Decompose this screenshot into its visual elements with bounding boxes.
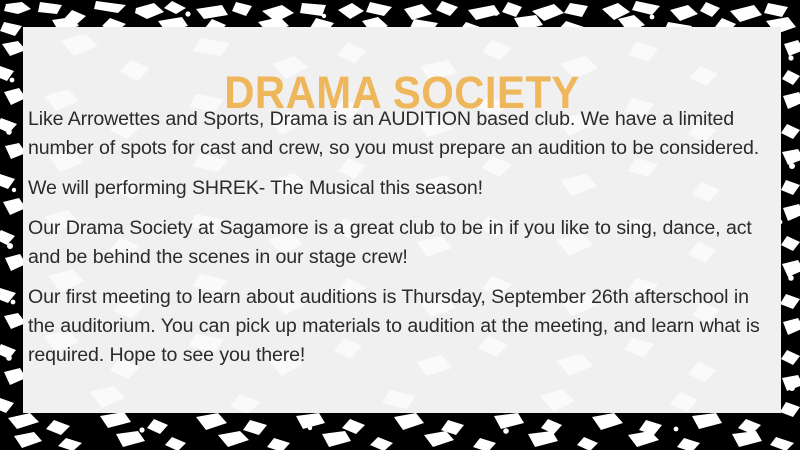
paragraph-show-announcement: We will performing SHREK- The Musical th… [28,174,773,203]
paragraph-first-meeting: Our first meeting to learn about auditio… [28,283,773,370]
body-copy: Like Arrowettes and Sports, Drama is an … [28,105,773,370]
drama-society-poster: DRAMA SOCIETY Like Arrowettes and Sports… [0,0,800,450]
paragraph-audition-info: Like Arrowettes and Sports, Drama is an … [28,105,773,163]
content-panel: DRAMA SOCIETY Like Arrowettes and Sports… [23,27,781,413]
paragraph-club-description: Our Drama Society at Sagamore is a great… [28,214,773,272]
